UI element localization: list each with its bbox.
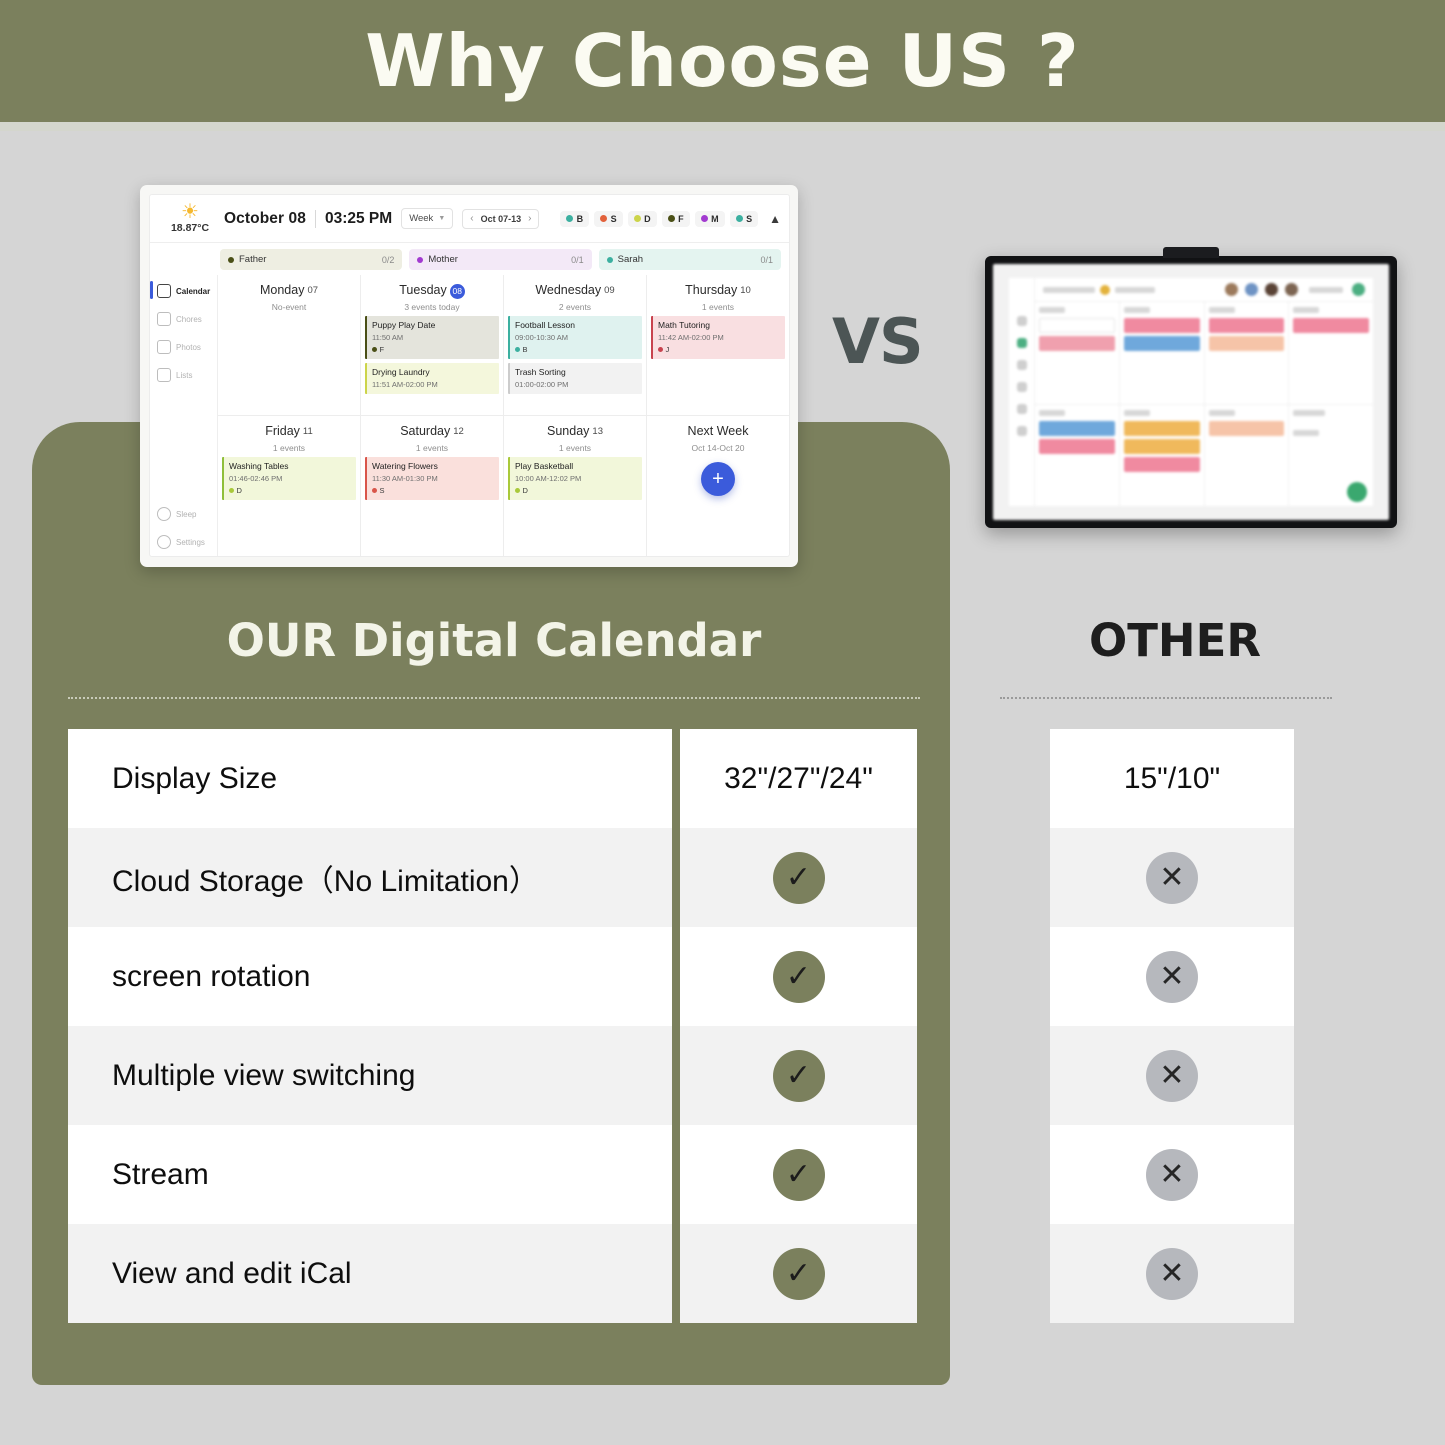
day-event-count: 1 events [218, 443, 360, 453]
other-sidebar-icon [1017, 338, 1027, 348]
ours-display-size: 32"/27"/24" [724, 762, 873, 796]
day-number: 10 [740, 285, 751, 296]
photos-icon [157, 340, 171, 354]
member-chip[interactable]: D [628, 211, 657, 227]
page-title: Why Choose US ? [365, 25, 1080, 97]
event-title: Trash Sorting [515, 367, 637, 378]
member-color-dot [228, 257, 234, 263]
table-row: ✕ [1050, 927, 1294, 1026]
event-time: 01:46-02:46 PM [229, 474, 351, 483]
feature-label: View and edit iCal [68, 1257, 352, 1291]
table-row: ✓ [680, 828, 917, 927]
other-column-title: OTHER [1000, 614, 1350, 667]
close-icon: ✕ [1146, 951, 1198, 1003]
close-icon: ✕ [1146, 1149, 1198, 1201]
owner-initial: J [666, 345, 670, 354]
next-week-range: Oct 14-Oct 20 [647, 443, 789, 453]
feature-name-column: Display SizeCloud Storage（No Limitation）… [68, 729, 672, 1323]
member-color-dot [566, 215, 573, 222]
day-column[interactable]: Wednesday092 eventsFootball Lesson09:00-… [504, 275, 647, 415]
table-row: Display Size [68, 729, 672, 828]
event-owner: S [372, 486, 494, 495]
next-week-arrow-icon[interactable]: › [528, 213, 531, 224]
day-event-count: 3 events today [361, 302, 503, 312]
sidebar-item-sleep[interactable]: Sleep [150, 500, 217, 528]
event-title: Watering Flowers [372, 461, 494, 472]
other-sidebar-icon [1017, 382, 1027, 392]
calendar-event[interactable]: Math Tutoring11:42 AM-02:00 PMJ [651, 316, 785, 359]
day-column[interactable]: Saturday121 eventsWatering Flowers11:30 … [361, 416, 504, 556]
day-header: Monday07 [218, 279, 360, 300]
event-title: Math Tutoring [658, 320, 780, 331]
member-chip-label: S [611, 214, 617, 224]
member-task-count: 0/1 [760, 255, 773, 265]
add-event-button[interactable]: + [701, 462, 735, 496]
member-chip-label: M [711, 214, 719, 224]
calendar-event[interactable]: Puppy Play Date11:50 AMF [365, 316, 499, 359]
table-row: ✕ [1050, 1224, 1294, 1323]
owner-initial: F [380, 345, 385, 354]
ours-value-column: 32"/27"/24"✓✓✓✓✓ [680, 729, 917, 1323]
table-row: Multiple view switching [68, 1026, 672, 1125]
calendar-topbar: ☀ 18.87°C October 08 03:25 PM Week ▼ ‹ O… [150, 195, 789, 243]
table-row: Stream [68, 1125, 672, 1224]
day-name: Monday [260, 283, 304, 297]
day-column[interactable]: Thursday101 eventsMath Tutoring11:42 AM-… [647, 275, 789, 415]
day-column[interactable]: Sunday131 eventsPlay Basketball10:00 AM-… [504, 416, 647, 556]
sidebar-spacer [150, 389, 217, 500]
calendar-event[interactable]: Watering Flowers11:30 AM-01:30 PMS [365, 457, 499, 500]
close-icon: ✕ [1146, 852, 1198, 904]
chevron-down-icon: ▼ [438, 215, 445, 222]
other-calendar-device [985, 256, 1397, 528]
member-color-dot [607, 257, 613, 263]
member-chip[interactable]: B [560, 211, 589, 227]
other-title-divider [1000, 697, 1332, 699]
table-row: Cloud Storage（No Limitation） [68, 828, 672, 927]
sleep-icon [157, 507, 171, 521]
day-number: 12 [453, 426, 464, 437]
day-event-count: 1 events [647, 302, 789, 312]
day-name: Sunday [547, 424, 589, 438]
event-time: 11:42 AM-02:00 PM [658, 333, 780, 342]
table-row: View and edit iCal [68, 1224, 672, 1323]
week-row-second: Friday111 eventsWashing Tables01:46-02:4… [218, 416, 789, 556]
settings-icon [157, 535, 171, 549]
event-time: 10:00 AM-12:02 PM [515, 474, 637, 483]
calendar-event[interactable]: Football Lesson09:00-10:30 AMB [508, 316, 642, 359]
day-event-count: No-event [218, 302, 360, 312]
chores-icon [157, 312, 171, 326]
week-range-label: Oct 07-13 [481, 214, 522, 224]
event-owner: B [515, 345, 637, 354]
other-sidebar-icon [1017, 360, 1027, 370]
other-topbar [1035, 278, 1373, 302]
owner-initial: D [523, 486, 528, 495]
day-event-count: 1 events [361, 443, 503, 453]
owner-color-dot [515, 347, 520, 352]
member-color-dot [701, 215, 708, 222]
other-value-column: 15"/10"✕✕✕✕✕ [1050, 729, 1294, 1323]
weather-temperature: 18.87°C [171, 222, 209, 234]
owner-initial: S [380, 486, 385, 495]
check-icon: ✓ [773, 1149, 825, 1201]
event-time: 11:51 AM-02:00 PM [372, 380, 494, 389]
event-title: Drying Laundry [372, 367, 494, 378]
check-icon: ✓ [773, 951, 825, 1003]
feature-label: Multiple view switching [68, 1059, 415, 1093]
owner-color-dot [515, 488, 520, 493]
sidebar-item-photos[interactable]: Photos [150, 333, 217, 361]
table-row: 32"/27"/24" [680, 729, 917, 828]
calendar-event[interactable]: Trash Sorting01:00-02:00 PM [508, 363, 642, 394]
event-title: Football Lesson [515, 320, 637, 331]
other-sidebar-icon [1017, 316, 1027, 326]
vs-label: VS [832, 305, 923, 378]
calendar-event[interactable]: Washing Tables01:46-02:46 PMD [222, 457, 356, 500]
member-chip-label: F [678, 214, 684, 224]
owner-initial: B [523, 345, 528, 354]
sidebar-item-label: Lists [176, 371, 192, 380]
day-number: 13 [592, 426, 603, 437]
sidebar-item-chores[interactable]: Chores [150, 305, 217, 333]
day-event-count: 2 events [504, 302, 646, 312]
sidebar-item-lists[interactable]: Lists [150, 361, 217, 389]
member-chip-label: D [644, 214, 651, 224]
sidebar-item-settings[interactable]: Settings [150, 528, 217, 556]
close-icon: ✕ [1146, 1050, 1198, 1102]
table-row: ✕ [1050, 1026, 1294, 1125]
week-row-first: Monday07No-eventTuesday083 events todayP… [218, 275, 789, 416]
event-time: 09:00-10:30 AM [515, 333, 637, 342]
next-week-title: Next Week [688, 424, 749, 438]
event-title: Play Basketball [515, 461, 637, 472]
day-name: Saturday [400, 424, 450, 438]
member-name: Mother [428, 254, 458, 265]
member-chip[interactable]: F [662, 211, 690, 227]
event-time: 11:50 AM [372, 333, 494, 342]
member-color-dot [417, 257, 423, 263]
other-week-grid [1035, 302, 1373, 506]
table-row: ✓ [680, 1026, 917, 1125]
current-date: October 08 [224, 210, 306, 228]
member-chip[interactable]: M [695, 211, 725, 227]
sidebar-item-label: Chores [176, 315, 202, 324]
day-name: Tuesday [399, 283, 446, 297]
member-color-dot [634, 215, 641, 222]
member-chip[interactable]: S [594, 211, 623, 227]
member-name: Father [239, 254, 266, 265]
event-owner: F [372, 345, 494, 354]
table-row: ✕ [1050, 1125, 1294, 1224]
day-number: 08 [450, 284, 465, 299]
other-sidebar [1009, 278, 1035, 506]
owner-color-dot [229, 488, 234, 493]
owner-color-dot [372, 347, 377, 352]
event-time: 01:00-02:00 PM [515, 380, 637, 389]
sidebar-item-label: Calendar [176, 287, 210, 296]
sidebar-item-label: Settings [176, 538, 205, 547]
table-row: screen rotation [68, 927, 672, 1026]
member-chip-label: S [746, 214, 752, 224]
member-summary-row: Father0/2Mother0/1Sarah0/1 [150, 243, 789, 275]
member-color-dot [668, 215, 675, 222]
day-column[interactable]: Monday07No-event [218, 275, 361, 415]
check-icon: ✓ [773, 1050, 825, 1102]
day-name: Thursday [685, 283, 737, 297]
header-divider [0, 122, 1445, 131]
ours-column-title: OUR Digital Calendar [68, 614, 920, 667]
day-header: Friday11 [218, 420, 360, 441]
lists-icon [157, 368, 171, 382]
day-event-count: 1 events [504, 443, 646, 453]
member-color-dot [736, 215, 743, 222]
event-owner: D [515, 486, 637, 495]
calendar-screen: ☀ 18.87°C October 08 03:25 PM Week ▼ ‹ O… [149, 194, 790, 557]
header-banner: Why Choose US ? [0, 0, 1445, 122]
day-number: 09 [604, 285, 615, 296]
feature-label: Display Size [68, 762, 277, 796]
member-task-count: 0/2 [382, 255, 395, 265]
calendar-sidebar: CalendarChoresPhotosListsSleepSettings [150, 275, 218, 556]
day-number: 07 [307, 285, 318, 296]
calendar-event[interactable]: Play Basketball10:00 AM-12:02 PMD [508, 457, 642, 500]
day-column[interactable]: Friday111 eventsWashing Tables01:46-02:4… [218, 416, 361, 556]
other-sidebar-icon [1017, 426, 1027, 436]
day-header: Saturday12 [361, 420, 503, 441]
day-header: Wednesday09 [504, 279, 646, 300]
member-progress-pill[interactable]: Mother0/1 [409, 249, 591, 270]
event-title: Washing Tables [229, 461, 351, 472]
check-icon: ✓ [773, 852, 825, 904]
our-digital-calendar-device: ☀ 18.87°C October 08 03:25 PM Week ▼ ‹ O… [140, 185, 798, 567]
week-range-nav[interactable]: ‹ Oct 07-13 › [462, 209, 539, 229]
close-icon: ✕ [1146, 1248, 1198, 1300]
feature-label: Cloud Storage（No Limitation） [68, 856, 539, 900]
event-title: Puppy Play Date [372, 320, 494, 331]
day-header: Thursday10 [647, 279, 789, 300]
member-chip-label: B [577, 214, 584, 224]
current-time: 03:25 PM [315, 210, 392, 228]
owner-color-dot [372, 488, 377, 493]
event-owner: D [229, 486, 351, 495]
view-mode-select[interactable]: Week ▼ [401, 208, 453, 229]
next-week-column[interactable]: Next WeekOct 14-Oct 20+ [647, 416, 789, 556]
ours-title-divider [68, 697, 920, 699]
member-progress-pill[interactable]: Sarah0/1 [599, 249, 781, 270]
other-display-size: 15"/10" [1124, 762, 1220, 796]
calendar-week-grid: Monday07No-eventTuesday083 events todayP… [218, 275, 789, 556]
prev-week-arrow-icon[interactable]: ‹ [470, 213, 473, 224]
feature-label: screen rotation [68, 960, 310, 994]
day-header: Tuesday08 [361, 279, 503, 300]
calendar-icon [157, 284, 171, 298]
sidebar-item-calendar[interactable]: Calendar [150, 277, 217, 305]
day-number: 11 [303, 426, 313, 437]
table-row: ✓ [680, 1125, 917, 1224]
other-sidebar-icon [1017, 404, 1027, 414]
next-week-header: Next Week [647, 420, 789, 441]
other-calendar-screen [993, 264, 1389, 520]
wifi-icon: ▲ [769, 212, 781, 226]
feature-label: Stream [68, 1158, 209, 1192]
member-color-dot [600, 215, 607, 222]
event-time: 11:30 AM-01:30 PM [372, 474, 494, 483]
table-row: ✓ [680, 927, 917, 1026]
day-header: Sunday13 [504, 420, 646, 441]
event-owner: J [658, 345, 780, 354]
day-name: Wednesday [535, 283, 601, 297]
sun-icon: ☀ [181, 203, 199, 221]
owner-initial: D [237, 486, 242, 495]
member-chip-list: BSDFMS [560, 211, 758, 227]
calendar-event[interactable]: Drying Laundry11:51 AM-02:00 PM [365, 363, 499, 394]
table-row: 15"/10" [1050, 729, 1294, 828]
sidebar-item-label: Photos [176, 343, 201, 352]
day-column[interactable]: Tuesday083 events todayPuppy Play Date11… [361, 275, 504, 415]
day-name: Friday [265, 424, 300, 438]
table-row: ✓ [680, 1224, 917, 1323]
comparison-infographic: Why Choose US ? ☀ 18.87°C October 08 03:… [0, 0, 1445, 1445]
member-task-count: 0/1 [571, 255, 584, 265]
owner-color-dot [658, 347, 663, 352]
member-progress-pill[interactable]: Father0/2 [220, 249, 402, 270]
weather-widget: ☀ 18.87°C [156, 203, 224, 234]
view-mode-label: Week [409, 213, 433, 224]
member-chip[interactable]: S [730, 211, 759, 227]
check-icon: ✓ [773, 1248, 825, 1300]
member-name: Sarah [618, 254, 643, 265]
table-row: ✕ [1050, 828, 1294, 927]
sidebar-item-label: Sleep [176, 510, 196, 519]
